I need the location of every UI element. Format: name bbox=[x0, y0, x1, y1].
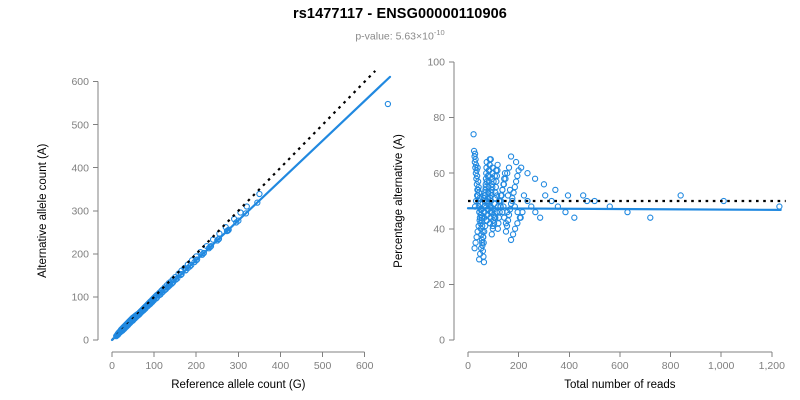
panel-percentage-alternative-scatter: 02040608010002004006008001,0001,200Total… bbox=[393, 57, 786, 391]
figure-container: rs1477117 - ENSG00000110906 p-value: 5.6… bbox=[0, 0, 800, 400]
x-tick-label-percentage-alternative-scatter: 200 bbox=[510, 360, 528, 372]
data-point bbox=[543, 193, 548, 198]
data-point bbox=[257, 191, 262, 196]
x-tick-label-percentage-alternative-scatter: 800 bbox=[662, 360, 680, 372]
x-tick-label-percentage-alternative-scatter: 0 bbox=[465, 360, 471, 372]
x-tick-label-percentage-alternative-scatter: 400 bbox=[561, 360, 579, 372]
data-point bbox=[385, 101, 390, 106]
data-point bbox=[541, 182, 546, 187]
data-point bbox=[508, 237, 513, 242]
data-point bbox=[553, 187, 558, 192]
x-tick-label-allele-count-scatter: 600 bbox=[356, 360, 374, 372]
data-point bbox=[625, 210, 630, 215]
x-tick-label-allele-count-scatter: 200 bbox=[187, 360, 205, 372]
y-tick-label-allele-count-scatter: 300 bbox=[71, 205, 89, 217]
x-axis-title-allele-count-scatter: Reference allele count (G) bbox=[171, 379, 305, 391]
data-point bbox=[515, 221, 520, 226]
y-tick-label-percentage-alternative-scatter: 100 bbox=[427, 57, 445, 69]
data-point bbox=[563, 210, 568, 215]
x-tick-label-percentage-alternative-scatter: 1,200 bbox=[759, 360, 785, 372]
data-point bbox=[538, 215, 543, 220]
y-tick-label-percentage-alternative-scatter: 60 bbox=[433, 168, 445, 180]
data-point bbox=[515, 173, 520, 178]
data-point bbox=[503, 229, 508, 234]
data-point bbox=[648, 215, 653, 220]
data-point bbox=[500, 187, 505, 192]
data-point bbox=[506, 165, 511, 170]
data-point bbox=[525, 171, 530, 176]
y-axis-title-allele-count-scatter: Alternative allele count (A) bbox=[37, 144, 49, 278]
data-points-allele-count-scatter bbox=[114, 101, 391, 338]
x-tick-label-percentage-alternative-scatter: 600 bbox=[611, 360, 629, 372]
y-tick-label-allele-count-scatter: 400 bbox=[71, 162, 89, 174]
x-tick-label-percentage-alternative-scatter: 1,000 bbox=[708, 360, 734, 372]
x-tick-label-allele-count-scatter: 100 bbox=[145, 360, 163, 372]
data-point bbox=[512, 226, 517, 231]
y-tick-label-allele-count-scatter: 500 bbox=[71, 119, 89, 131]
data-point bbox=[473, 240, 478, 245]
y-tick-label-percentage-alternative-scatter: 0 bbox=[439, 335, 445, 347]
data-point bbox=[495, 162, 500, 167]
y-tick-label-allele-count-scatter: 100 bbox=[71, 292, 89, 304]
data-point bbox=[502, 215, 507, 220]
y-tick-label-allele-count-scatter: 0 bbox=[83, 335, 89, 347]
x-tick-label-allele-count-scatter: 400 bbox=[272, 360, 290, 372]
data-points-percentage-alternative-scatter bbox=[471, 132, 782, 265]
data-point bbox=[510, 232, 515, 237]
plot-canvas: 01002003004005006000100200300400500600Re… bbox=[0, 0, 800, 400]
data-point bbox=[474, 235, 479, 240]
data-point bbox=[572, 215, 577, 220]
y-axis-title-percentage-alternative-scatter: Percentage alternative (A) bbox=[393, 134, 405, 268]
data-point bbox=[477, 257, 482, 262]
data-point bbox=[514, 179, 519, 184]
x-tick-label-allele-count-scatter: 500 bbox=[314, 360, 332, 372]
data-point bbox=[507, 187, 512, 192]
y-tick-label-percentage-alternative-scatter: 80 bbox=[433, 112, 445, 124]
data-point bbox=[511, 190, 516, 195]
data-point bbox=[489, 232, 494, 237]
y-tick-label-percentage-alternative-scatter: 20 bbox=[433, 279, 445, 291]
y-tick-label-percentage-alternative-scatter: 40 bbox=[433, 223, 445, 235]
data-point bbox=[471, 132, 476, 137]
data-point bbox=[508, 154, 513, 159]
data-point bbox=[565, 193, 570, 198]
data-point bbox=[495, 226, 500, 231]
data-point bbox=[532, 176, 537, 181]
data-point bbox=[777, 204, 782, 209]
data-point bbox=[514, 159, 519, 164]
x-axis-title-percentage-alternative-scatter: Total number of reads bbox=[564, 379, 675, 391]
y-tick-label-allele-count-scatter: 200 bbox=[71, 248, 89, 260]
y-tick-label-allele-count-scatter: 600 bbox=[71, 76, 89, 88]
data-point bbox=[472, 246, 477, 251]
fit-line-allele-count-scatter bbox=[112, 77, 390, 340]
data-point bbox=[533, 210, 538, 215]
data-point bbox=[678, 193, 683, 198]
data-point bbox=[505, 193, 510, 198]
panel-allele-count-scatter: 01002003004005006000100200300400500600Re… bbox=[37, 71, 390, 391]
data-point bbox=[581, 193, 586, 198]
x-tick-label-allele-count-scatter: 300 bbox=[230, 360, 248, 372]
data-point bbox=[521, 193, 526, 198]
x-tick-label-allele-count-scatter: 0 bbox=[109, 360, 115, 372]
